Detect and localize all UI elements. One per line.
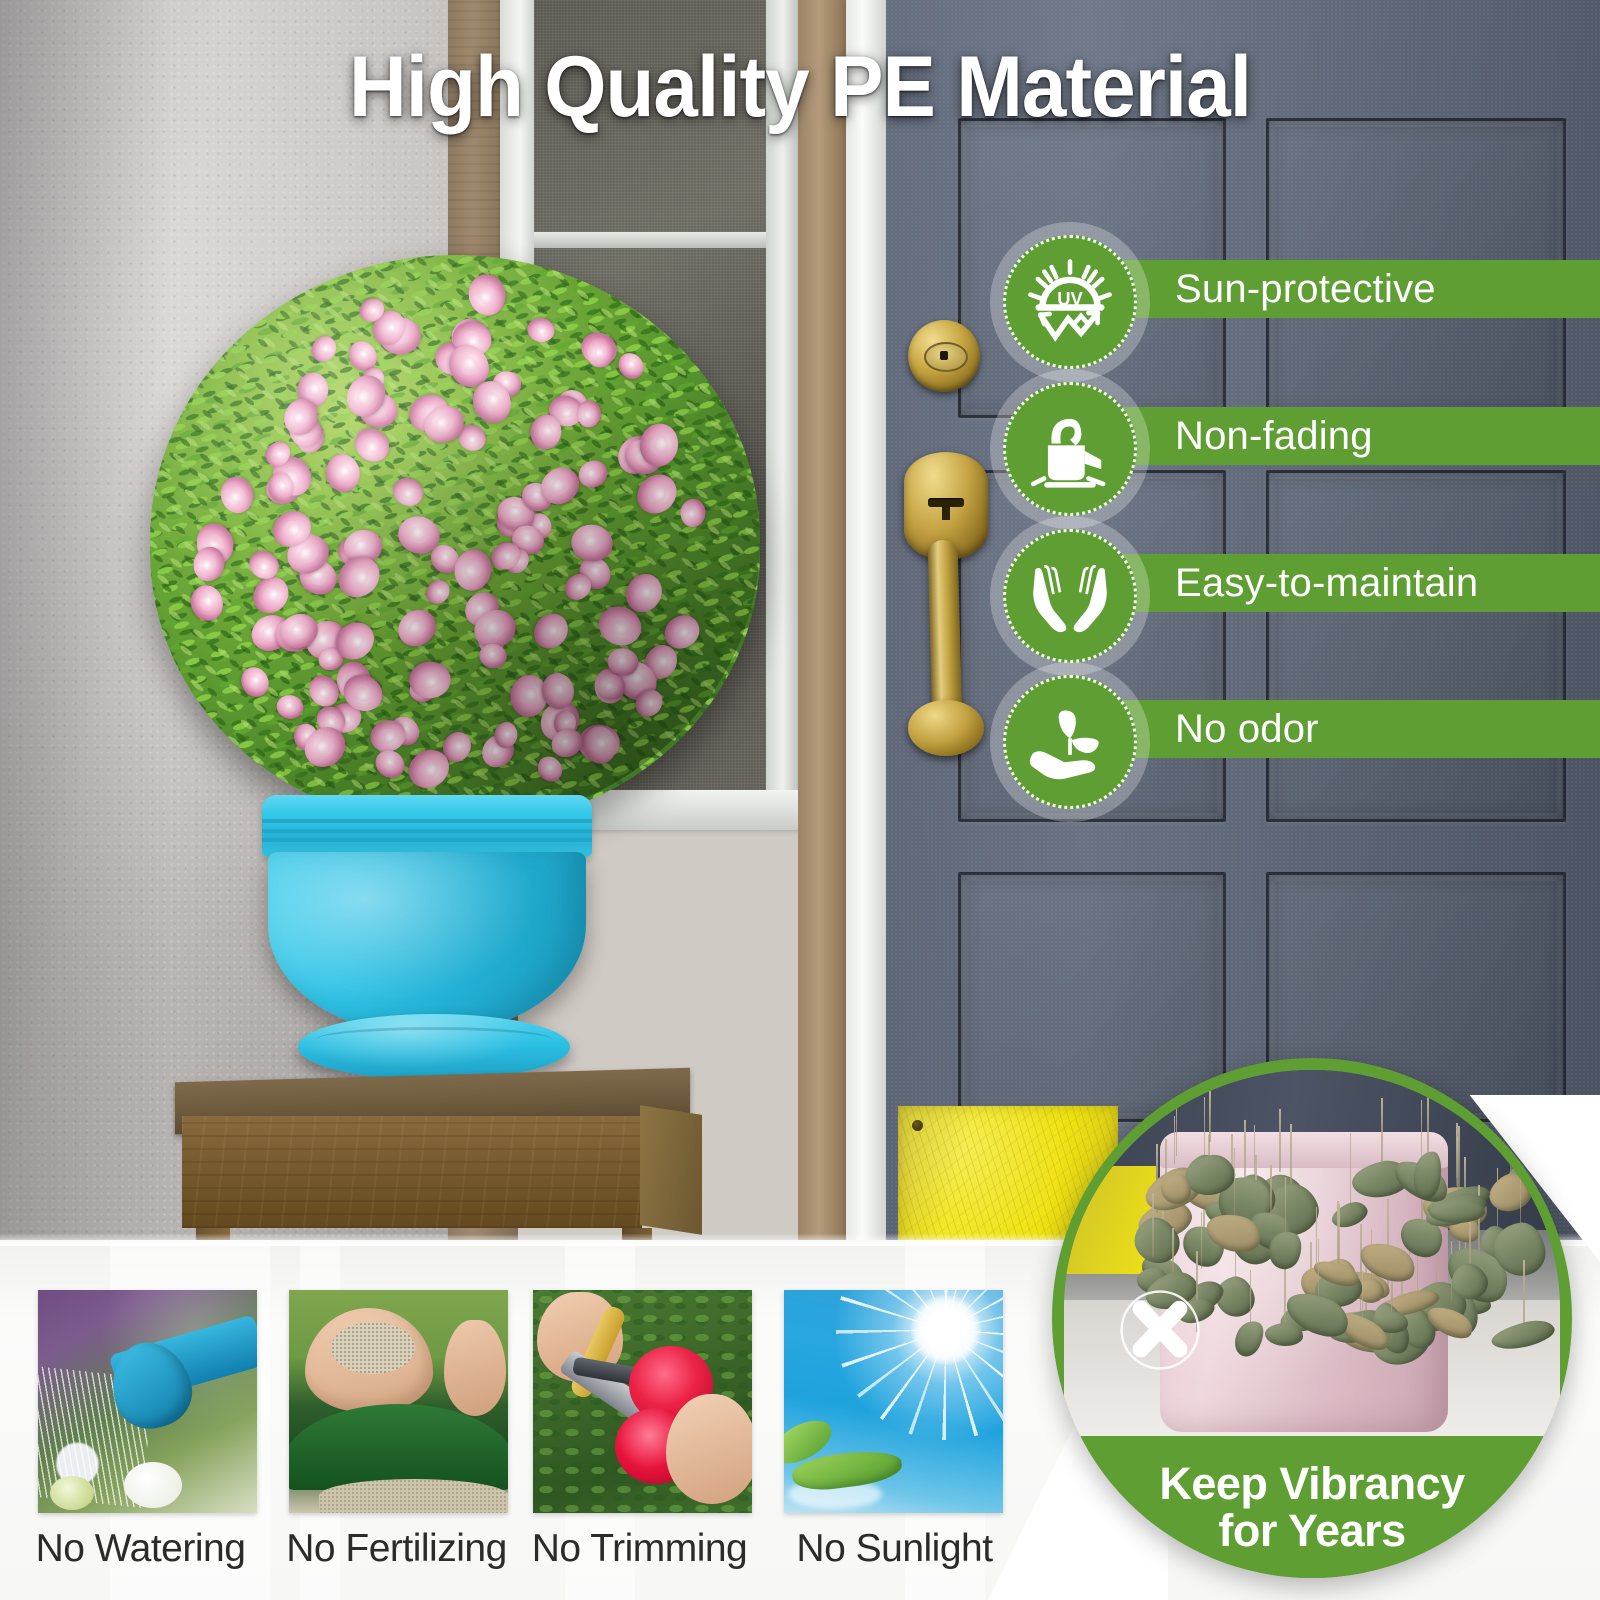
hanging-string [1457,1137,1459,1195]
kick-plate-screw [912,1120,923,1131]
rose-bloom [370,745,410,784]
no-fertilizing-photo [289,1290,508,1513]
rose-bloom [526,316,557,344]
hand [666,1394,752,1504]
hanging-string [1250,1270,1252,1327]
rose-bloom [613,348,648,384]
rose-bloom [308,332,342,367]
feature-icon-circle [1003,382,1137,516]
no-watering-photo [38,1290,257,1513]
feature-item-non-fading[interactable]: Non-fading [985,369,1600,529]
window-rail [534,232,766,248]
feature-icon-circle: UV [1003,235,1137,369]
rose-bloom [388,474,427,512]
keyhole [928,498,964,507]
hanging-string [1279,1109,1281,1172]
page-title: High Quality PE Material [56,38,1544,137]
rose-bloom [576,399,602,428]
withered-leaf [1265,1323,1303,1346]
feature-bar [1075,700,1600,758]
rose-bloom [464,271,509,320]
door-jamb-trim [846,0,888,1290]
hanging-string [1381,1098,1383,1171]
rose-bloom [323,451,363,495]
rose-bloom [217,473,257,516]
vibrancy-label-band: Keep Vibrancy for Years [1052,1436,1572,1578]
fertilizer-granules [331,1322,415,1374]
feature-label: Easy-to-maintain [1175,554,1478,612]
green-bucket [289,1404,508,1490]
cupped-hands-icon [1024,550,1116,642]
hanging-string [1201,1212,1203,1269]
benefit-caption: No Watering [24,1527,257,1571]
hanging-string [1234,1148,1236,1223]
rose-bloom [237,662,275,701]
vibrancy-line-1: Keep Vibrancy [1159,1460,1464,1507]
rose-bloom [477,642,508,671]
rose-bloom [275,693,306,721]
rose-bloom [574,455,613,492]
planter-pot-rim [262,795,592,857]
tan-wall-strip [798,0,850,1270]
green-flower [50,1476,94,1510]
benefit-item-no-fertilizing[interactable]: No Fertilizing [289,1290,508,1571]
fertilizing-scene [289,1290,508,1513]
trimming-scene [533,1290,752,1513]
feature-icon-circle [1003,675,1137,809]
topiary-roses [150,255,760,825]
product-infographic: High Quality PE Material Sun-protective [0,0,1600,1600]
hanging-string [1152,1193,1154,1257]
hanging-string [1176,1104,1178,1156]
hanging-string [1350,1133,1352,1213]
rose-bloom [527,606,575,654]
benefit-caption: No Trimming [527,1527,752,1571]
second-hand [444,1320,506,1416]
hand-with-sprout-icon [1024,696,1116,788]
rose-bloom [391,602,443,653]
watering-scene [38,1290,257,1513]
brass-deadbolt [908,320,980,392]
wooden-stool-front [182,1116,642,1228]
watering-can-icon [1024,403,1116,495]
feature-label: Sun-protective [1175,260,1436,318]
rose-bloom [680,498,707,528]
sun-core [911,1295,981,1365]
feature-item-sun-protective[interactable]: Sun-protective [985,222,1600,382]
feature-list: Sun-protective [985,222,1600,942]
benefit-caption: No Fertilizing [285,1527,508,1571]
keep-vibrancy-callout: Keep Vibrancy for Years [1052,1058,1572,1578]
hanging-string [1510,1108,1512,1177]
withered-plant-photo [1064,1070,1560,1450]
topiary-ball [150,255,760,825]
rose-bloom [187,582,228,625]
fertilizer-pile [319,1479,508,1513]
rose-bloom [569,522,615,564]
white-flower [124,1462,182,1508]
rose-bloom [330,549,388,606]
wooden-stool-side [640,1105,702,1235]
benefit-item-no-sunlight[interactable]: No Sunlight [784,1290,1003,1571]
no-sunlight-photo [784,1290,1003,1513]
hanging-string [1209,1091,1211,1142]
no-trimming-photo [533,1290,752,1513]
benefit-item-no-trimming[interactable]: No Trimming [533,1290,752,1571]
feature-icon-circle [1003,529,1137,663]
x-mark-icon [1112,1282,1208,1378]
feature-item-easy-to-maintain[interactable]: Easy-to-maintain [985,516,1600,676]
sunlight-scene [784,1290,1003,1513]
rose-bloom [629,466,684,521]
rose-bloom [409,660,452,699]
feature-label: Non-fading [1175,407,1373,465]
svg-text:UV: UV [1057,288,1083,309]
benefit-thumbnail-row: No Watering No Fertilizing [0,1240,1030,1600]
hanging-string [1270,1165,1272,1215]
hanging-string [1537,1081,1539,1156]
benefit-item-no-watering[interactable]: No Watering [38,1290,257,1571]
vibrancy-line-2: for Years [1218,1507,1405,1554]
rose-bloom [421,576,454,609]
uv-sun-icon: UV [1024,256,1116,348]
planter-saucer [298,1014,570,1080]
benefit-caption: No Sunlight [786,1527,1003,1571]
feature-item-no-odor[interactable]: No odor [985,662,1600,822]
handle-base-plate [908,700,984,756]
feature-label: No odor [1175,700,1319,758]
